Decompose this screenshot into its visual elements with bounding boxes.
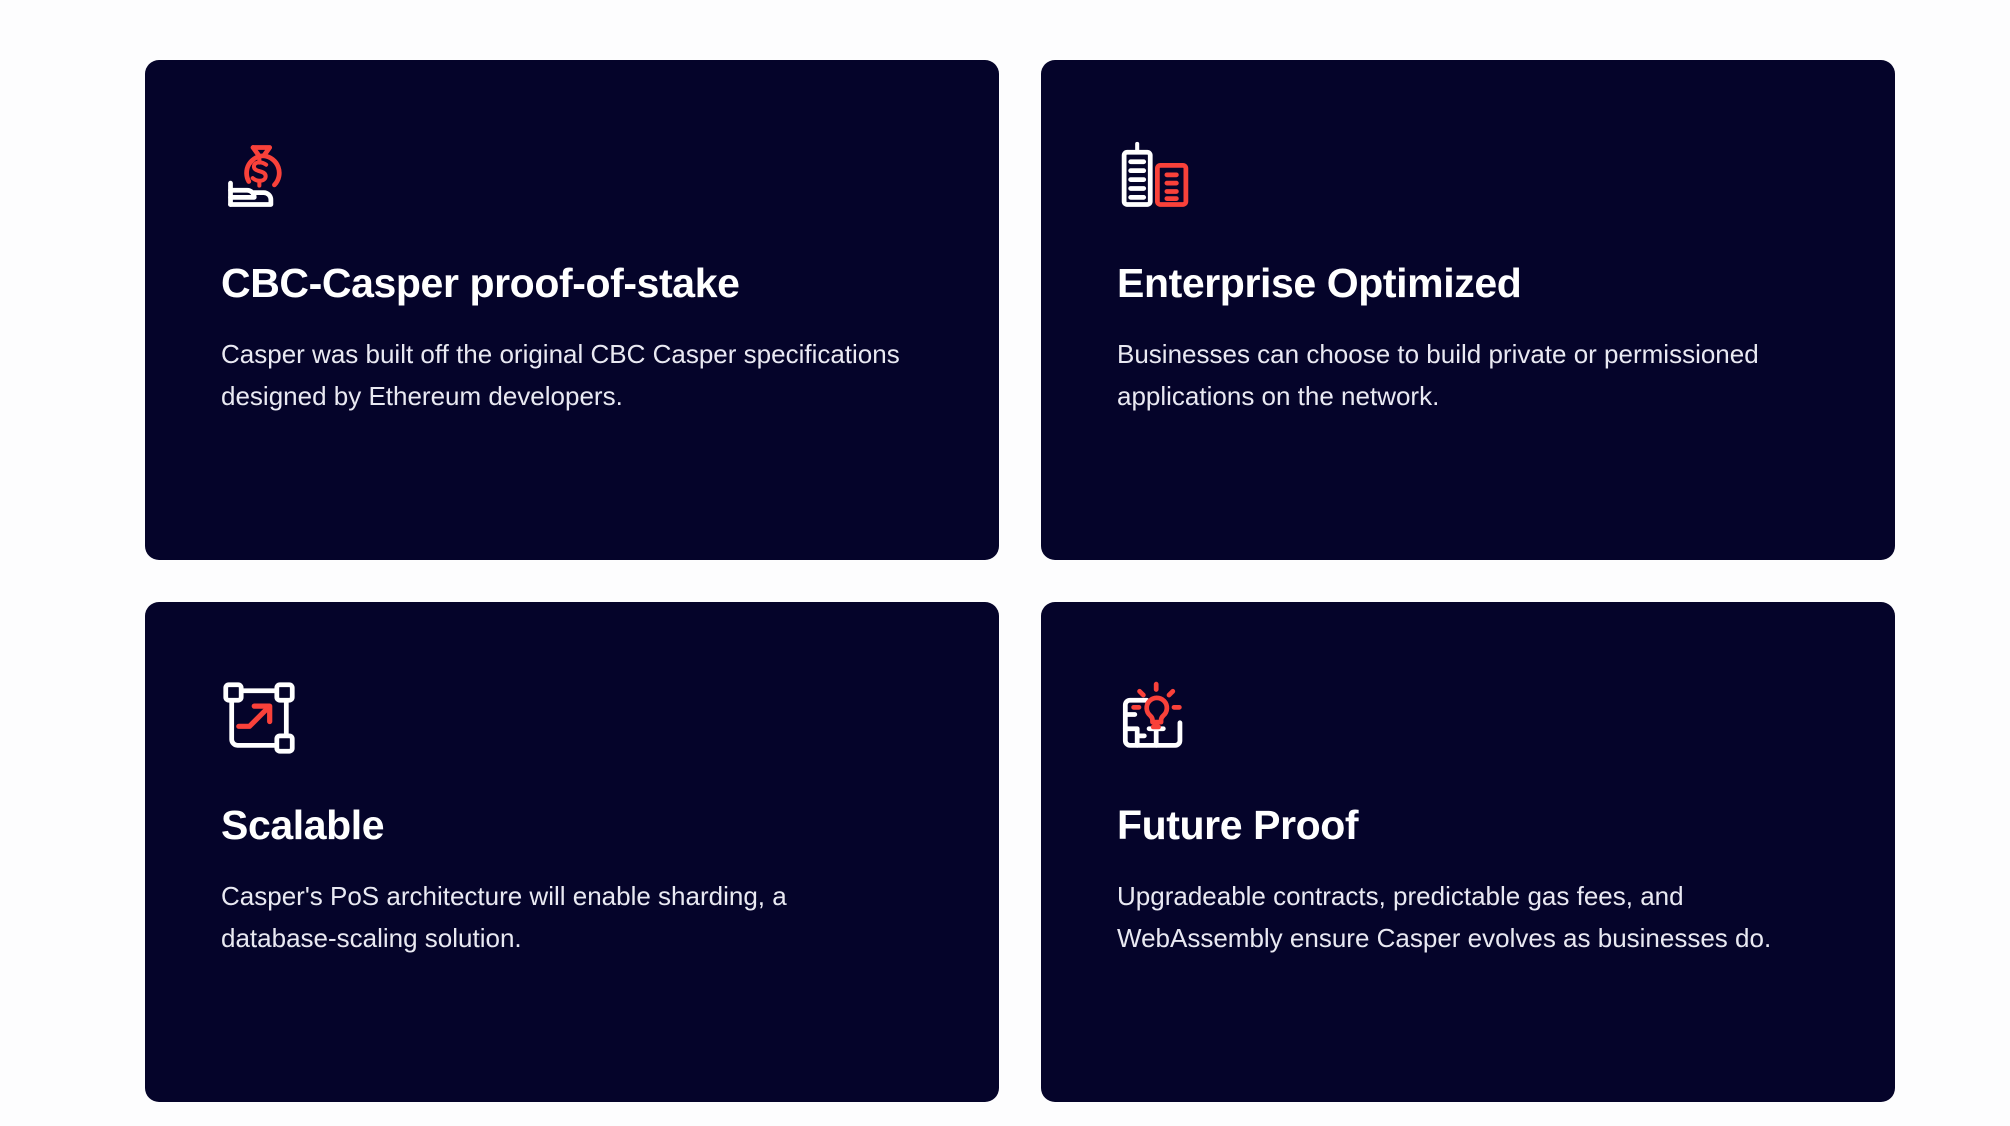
feature-title: Future Proof (1117, 802, 1819, 849)
feature-card-cbc-casper-proof-of-stake[interactable]: CBC-Casper proof-of-stake Casper was bui… (145, 60, 999, 560)
blueprint-lightbulb-icon (1117, 680, 1193, 756)
feature-card-scalable[interactable]: Scalable Casper's PoS architecture will … (145, 602, 999, 1102)
features-section: CBC-Casper proof-of-stake Casper was bui… (0, 0, 2010, 1126)
office-buildings-icon (1117, 138, 1193, 214)
feature-title: Scalable (221, 802, 923, 849)
feature-title: CBC-Casper proof-of-stake (221, 260, 923, 307)
feature-title: Enterprise Optimized (1117, 260, 1819, 307)
feature-card-future-proof[interactable]: Future Proof Upgradeable contracts, pred… (1041, 602, 1895, 1102)
feature-description: Upgradeable contracts, predictable gas f… (1117, 875, 1797, 959)
feature-description: Casper's PoS architecture will enable sh… (221, 875, 901, 959)
feature-description: Businesses can choose to build private o… (1117, 333, 1797, 417)
feature-card-enterprise-optimized[interactable]: Enterprise Optimized Businesses can choo… (1041, 60, 1895, 560)
scale-arrow-icon (221, 680, 297, 756)
feature-description: Casper was built off the original CBC Ca… (221, 333, 901, 417)
features-grid: CBC-Casper proof-of-stake Casper was bui… (145, 60, 1895, 1102)
money-bag-stake-icon (221, 138, 297, 214)
